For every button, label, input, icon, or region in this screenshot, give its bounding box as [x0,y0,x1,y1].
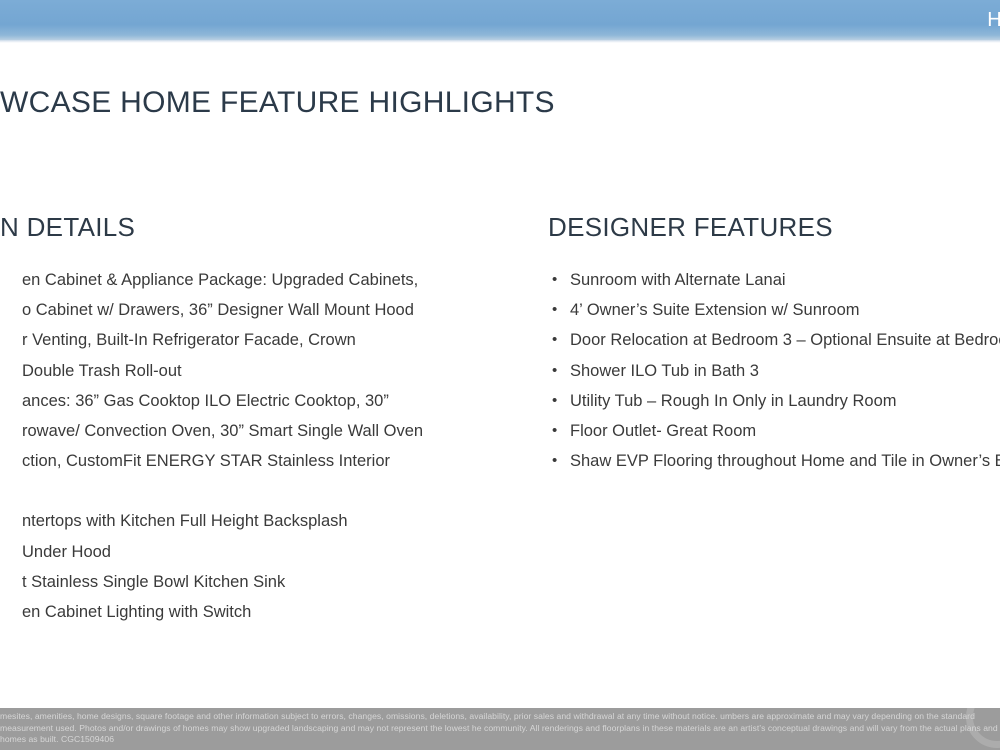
right-column: DESIGNER FEATURES Sunroom with Alternate… [548,212,1000,476]
list-item: Double Trash Roll-out [0,356,560,386]
footer-band: mesites, amenities, home designs, square… [0,708,1000,750]
list-item: Floor Outlet- Great Room [548,416,1000,446]
list-item: Shower ILO Tub in Bath 3 [548,356,1000,386]
left-column-heading: N DETAILS [0,212,560,243]
list-item-spacer [0,476,560,506]
left-column: N DETAILS en Cabinet & Appliance Package… [0,212,560,627]
list-item: rowave/ Convection Oven, 30” Smart Singl… [0,416,560,446]
designer-features-list: Sunroom with Alternate Lanai 4’ Owner’s … [548,265,1000,476]
list-item: en Cabinet & Appliance Package: Upgraded… [0,265,560,295]
header-band [0,0,1000,40]
kitchen-details-list: en Cabinet & Appliance Package: Upgraded… [0,265,560,627]
list-item: Sunroom with Alternate Lanai [548,265,1000,295]
list-item: Door Relocation at Bedroom 3 – Optional … [548,325,1000,355]
slide-canvas: Homesit WCASE HOME FEATURE HIGHLIGHTS N … [0,0,1000,750]
list-item: 4’ Owner’s Suite Extension w/ Sunroom [548,295,1000,325]
header-title: Homesit [987,9,1000,32]
list-item: Shaw EVP Flooring throughout Home and Ti… [548,446,1000,476]
list-item: en Cabinet Lighting with Switch [0,597,560,627]
header-underline [0,40,1000,43]
page-title: WCASE HOME FEATURE HIGHLIGHTS [0,86,555,120]
list-item: o Cabinet w/ Drawers, 36” Designer Wall … [0,295,560,325]
right-column-heading: DESIGNER FEATURES [548,212,1000,243]
list-item: Utility Tub – Rough In Only in Laundry R… [548,386,1000,416]
list-item: Under Hood [0,537,560,567]
list-item: r Venting, Built-In Refrigerator Facade,… [0,325,560,355]
list-item: ction, CustomFit ENERGY STAR Stainless I… [0,446,560,476]
list-item: t Stainless Single Bowl Kitchen Sink [0,567,560,597]
list-item: ntertops with Kitchen Full Height Backsp… [0,506,560,536]
list-item: ances: 36” Gas Cooktop ILO Electric Cook… [0,386,560,416]
footer-disclaimer: mesites, amenities, home designs, square… [0,711,1000,746]
